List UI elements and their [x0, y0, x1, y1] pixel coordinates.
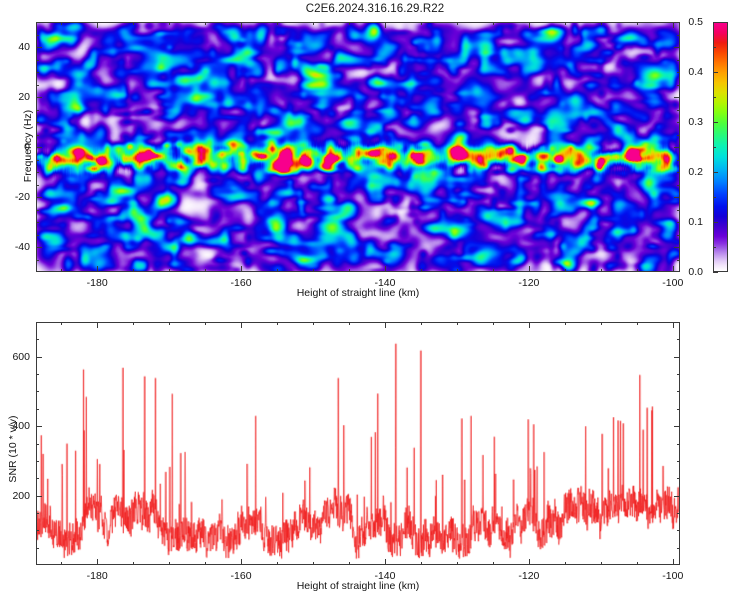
tick-y-minor [36, 110, 39, 111]
tick-x-minor [565, 22, 566, 25]
tick-x-minor [493, 269, 494, 272]
colorbar-tick [713, 122, 718, 123]
tick-x-minor [277, 269, 278, 272]
ticklabel-x: -120 [518, 277, 539, 289]
tick-x-minor [169, 322, 170, 325]
tick-x-top [97, 322, 98, 328]
tick-x-minor [565, 562, 566, 565]
tick-y-minor [677, 122, 680, 123]
ticklabel-x: -160 [231, 570, 252, 582]
tick-x-top [241, 22, 242, 28]
tick-x-minor [457, 322, 458, 325]
tick-y-minor [36, 548, 39, 549]
tick-x-minor [205, 22, 206, 25]
tick-x-minor [169, 22, 170, 25]
tick-y-minor [36, 391, 39, 392]
tick-y-minor [677, 35, 680, 36]
tick-x-minor [349, 22, 350, 25]
tick-y-minor [677, 135, 680, 136]
tick-x-minor [421, 269, 422, 272]
tick-y-right [674, 47, 680, 48]
tick-y-minor [36, 461, 39, 462]
ticklabel-x: -180 [87, 277, 108, 289]
tick-x-minor [493, 22, 494, 25]
colorbar-tick-minor [713, 247, 716, 248]
tick-y [36, 47, 42, 48]
colorbar-tick-minor [713, 197, 716, 198]
tick-y-minor [36, 444, 39, 445]
tick-y-minor [36, 85, 39, 86]
tick-y-minor [677, 260, 680, 261]
tick-y-minor [36, 185, 39, 186]
tick-x [529, 559, 530, 565]
tick-y-minor [677, 72, 680, 73]
tick-x-minor [169, 562, 170, 565]
tick-x-minor [421, 562, 422, 565]
ticklabel-x: -100 [662, 277, 683, 289]
tick-y-minor [677, 513, 680, 514]
figure-root: C2E6.2024.316.16.29.R22 -180-160-140-120… [0, 0, 750, 600]
tick-y-minor [677, 322, 680, 323]
ticklabel-x: -100 [662, 570, 683, 582]
tick-x-minor [169, 269, 170, 272]
snr-axes [36, 322, 680, 565]
tick-y-minor [36, 260, 39, 261]
tick-x-minor [277, 562, 278, 565]
tick-x-minor [457, 269, 458, 272]
tick-x-minor [61, 269, 62, 272]
tick-x-minor [313, 322, 314, 325]
tick-x [673, 559, 674, 565]
colorbar-tick [713, 272, 718, 273]
tick-y [36, 496, 42, 497]
tick-y-right [674, 357, 680, 358]
tick-y-minor [677, 160, 680, 161]
colorbar-ticklabel: 0.4 [688, 66, 703, 78]
tick-x-top [385, 22, 386, 28]
tick-x-minor [61, 22, 62, 25]
tick-x [385, 266, 386, 272]
tick-y [36, 247, 42, 248]
tick-x-minor [313, 269, 314, 272]
colorbar-tick [713, 22, 718, 23]
colorbar-tick [713, 72, 718, 73]
tick-y-minor [36, 72, 39, 73]
tick-y-minor [677, 409, 680, 410]
tick-y-minor [36, 160, 39, 161]
tick-x-minor [313, 22, 314, 25]
figure-title: C2E6.2024.316.16.29.R22 [0, 3, 750, 15]
tick-x-top [673, 322, 674, 328]
tick-y-minor [677, 210, 680, 211]
tick-x-minor [205, 322, 206, 325]
snr-xlabel: Height of straight line (km) [297, 580, 420, 592]
tick-y-minor [36, 135, 39, 136]
tick-x-minor [457, 562, 458, 565]
tick-y-right [674, 247, 680, 248]
ticklabel-y: -40 [0, 241, 30, 253]
tick-y-right [674, 97, 680, 98]
colorbar-tick-minor [713, 97, 716, 98]
tick-y-minor [677, 478, 680, 479]
spectrogram-ylabel: Frequency (Hz) [22, 86, 34, 206]
tick-y-minor [36, 478, 39, 479]
tick-x-minor [637, 269, 638, 272]
tick-x-minor [601, 269, 602, 272]
tick-y-minor [36, 35, 39, 36]
tick-y-minor [677, 548, 680, 549]
colorbar-tick-minor [713, 47, 716, 48]
tick-x-minor [637, 322, 638, 325]
tick-y-right [674, 496, 680, 497]
tick-y-minor [677, 85, 680, 86]
tick-y-minor [677, 374, 680, 375]
tick-y-minor [36, 122, 39, 123]
tick-x-minor [277, 322, 278, 325]
tick-x-minor [205, 269, 206, 272]
tick-y-minor [677, 110, 680, 111]
tick-y-minor [36, 222, 39, 223]
tick-y-minor [677, 530, 680, 531]
tick-y-minor [36, 409, 39, 410]
tick-x-minor [313, 562, 314, 565]
tick-y-minor [677, 185, 680, 186]
tick-x-minor [601, 322, 602, 325]
snr-trace-line [37, 323, 679, 564]
tick-y-right [674, 147, 680, 148]
spectrogram-image [37, 23, 679, 271]
tick-x-minor [349, 562, 350, 565]
tick-y-minor [677, 172, 680, 173]
tick-x-minor [349, 322, 350, 325]
tick-y-minor [677, 391, 680, 392]
colorbar-tick [713, 172, 718, 173]
tick-x-minor [133, 22, 134, 25]
tick-y-minor [677, 222, 680, 223]
tick-y-minor [36, 235, 39, 236]
tick-y-minor [36, 530, 39, 531]
tick-x-minor [565, 322, 566, 325]
tick-x-minor [421, 22, 422, 25]
tick-x-top [673, 22, 674, 28]
tick-x-minor [133, 562, 134, 565]
tick-y-minor [677, 461, 680, 462]
tick-y [36, 147, 42, 148]
tick-y-minor [36, 172, 39, 173]
tick-y-minor [36, 513, 39, 514]
tick-x [97, 559, 98, 565]
tick-y [36, 197, 42, 198]
colorbar-tick [713, 222, 718, 223]
tick-y-minor [677, 444, 680, 445]
ticklabel-x: -120 [518, 570, 539, 582]
tick-y-minor [36, 339, 39, 340]
spectrogram-xlabel: Height of straight line (km) [297, 287, 420, 299]
tick-x-top [241, 322, 242, 328]
tick-x-top [529, 22, 530, 28]
tick-y-right [674, 426, 680, 427]
tick-x-minor [457, 22, 458, 25]
tick-x-minor [601, 22, 602, 25]
snr-ylabel: SNR (10 * v/v) [7, 389, 19, 509]
colorbar-ticklabel: 0.0 [688, 266, 703, 278]
tick-y [36, 426, 42, 427]
tick-x [673, 266, 674, 272]
tick-x [241, 266, 242, 272]
tick-x [529, 266, 530, 272]
tick-x-minor [61, 322, 62, 325]
tick-x-minor [637, 562, 638, 565]
tick-x-minor [277, 22, 278, 25]
tick-x-minor [601, 562, 602, 565]
spectrogram-axes [36, 22, 680, 272]
ticklabel-x: -180 [87, 570, 108, 582]
tick-y-minor [677, 235, 680, 236]
tick-y [36, 357, 42, 358]
tick-y-minor [36, 60, 39, 61]
tick-x-minor [133, 269, 134, 272]
tick-x-minor [421, 322, 422, 325]
tick-x [241, 559, 242, 565]
tick-x-minor [133, 322, 134, 325]
tick-x-minor [493, 562, 494, 565]
tick-y-minor [36, 374, 39, 375]
colorbar-ticklabel: 0.2 [688, 166, 703, 178]
ticklabel-y: 600 [0, 351, 30, 363]
tick-x-minor [349, 269, 350, 272]
tick-x-minor [61, 562, 62, 565]
tick-x-top [385, 322, 386, 328]
tick-x-minor [565, 269, 566, 272]
tick-y-minor [677, 60, 680, 61]
tick-y-minor [36, 210, 39, 211]
tick-x-minor [205, 562, 206, 565]
tick-x-top [529, 322, 530, 328]
tick-x-minor [637, 22, 638, 25]
ticklabel-x: -160 [231, 277, 252, 289]
ticklabel-y: 40 [0, 41, 30, 53]
colorbar-ticklabel: 0.3 [688, 116, 703, 128]
colorbar-tick-minor [713, 147, 716, 148]
tick-y-minor [36, 322, 39, 323]
tick-x-top [97, 22, 98, 28]
tick-x [97, 266, 98, 272]
tick-y-right [674, 197, 680, 198]
tick-y-minor [677, 339, 680, 340]
colorbar-ticklabel: 0.5 [688, 16, 703, 28]
colorbar-ticklabel: 0.1 [688, 216, 703, 228]
tick-y [36, 97, 42, 98]
tick-x [385, 559, 386, 565]
tick-x-minor [493, 322, 494, 325]
